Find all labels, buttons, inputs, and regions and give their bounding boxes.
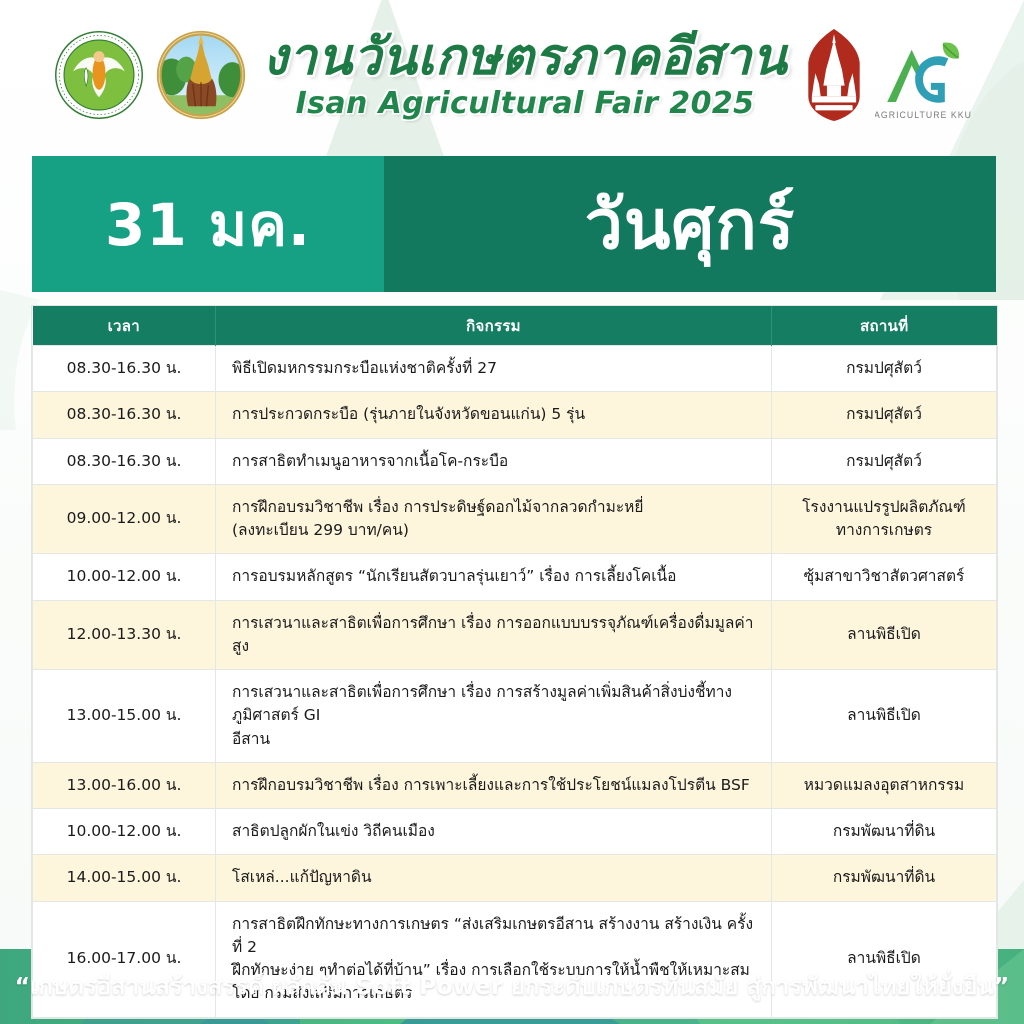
table-row: 10.00-12.00 น.สาธิตปลูกผักในเข่ง วิถีคนเ… (33, 809, 997, 855)
khon-kaen-university-seal-icon (803, 27, 865, 123)
footer-slogan: “เกษตรอีสานสร้างสรรค์ ผลักดัน Soft Power… (15, 968, 1010, 1005)
cell-activity: สาธิตปลูกผักในเข่ง วิถีคนเมือง (216, 809, 772, 855)
cell-time: 13.00-16.00 น. (33, 762, 216, 808)
cell-time: 10.00-12.00 น. (33, 809, 216, 855)
cell-place: ลานพิธีเปิด (772, 600, 997, 670)
poster-header: งานวันเกษตรภาคอีสาน Isan Agricultural Fa… (0, 0, 1024, 150)
poster-canvas: งานวันเกษตรภาคอีสาน Isan Agricultural Fa… (0, 0, 1024, 1024)
cell-time: 13.00-15.00 น. (33, 670, 216, 763)
cell-place: หมวดแมลงอุตสาหกรรม (772, 762, 997, 808)
cell-time: 09.00-12.00 น. (33, 484, 216, 554)
day-block: วันศุกร์ (384, 156, 996, 292)
table-row: 10.00-12.00 น.การอบรมหลักสูตร “นักเรียนส… (33, 554, 997, 600)
cell-activity: พิธีเปิดมหกรรมกระบือแห่งชาติครั้งที่ 27 (216, 346, 772, 392)
column-header-activity: กิจกรรม (216, 306, 772, 346)
cell-activity: การประกวดกระบือ (รุ่นภายในจังหวัดขอนแก่น… (216, 392, 772, 438)
schedule-table-container: เวลา กิจกรรม สถานที่ 08.30-16.30 น.พิธีเ… (32, 306, 996, 1018)
poster-footer: “เกษตรอีสานสร้างสรรค์ ผลักดัน Soft Power… (0, 949, 1024, 1024)
cell-time: 08.30-16.30 น. (33, 346, 216, 392)
cell-place: โรงงานแปรรูปผลิตภัณฑ์ทางการเกษตร (772, 484, 997, 554)
title-block: งานวันเกษตรภาคอีสาน Isan Agricultural Fa… (257, 32, 793, 119)
cell-activity: การอบรมหลักสูตร “นักเรียนสัตวบาลรุ่นเยาว… (216, 554, 772, 600)
cell-activity: การฝึกอบรมวิชาชีพ เรื่อง การเพาะเลี้ยงแล… (216, 762, 772, 808)
fair-title-thai: งานวันเกษตรภาคอีสาน (263, 32, 787, 83)
day-of-week-text: วันศุกร์ (585, 170, 796, 278)
table-row: 08.30-16.30 น.พิธีเปิดมหกรรมกระบือแห่งชา… (33, 346, 997, 392)
column-header-time: เวลา (33, 306, 216, 346)
table-row: 12.00-13.30 น.การเสวนาและสาธิตเพื่อการศึ… (33, 600, 997, 670)
svg-text:AGRICULTURE KKU: AGRICULTURE KKU (875, 110, 971, 120)
date-block: 31 มค. (32, 156, 384, 292)
column-header-place: สถานที่ (772, 306, 997, 346)
schedule-table-head: เวลา กิจกรรม สถานที่ (33, 306, 997, 346)
cell-time: 10.00-12.00 น. (33, 554, 216, 600)
cell-place: กรมปศุสัตว์ (772, 392, 997, 438)
cell-place: ลานพิธีเปิด (772, 670, 997, 763)
table-row: 09.00-12.00 น.การฝึกอบรมวิชาชีพ เรื่อง ก… (33, 484, 997, 554)
table-row: 13.00-15.00 น.การเสวนาและสาธิตเพื่อการศึ… (33, 670, 997, 763)
cell-time: 12.00-13.30 น. (33, 600, 216, 670)
table-row: 14.00-15.00 น.โสเหล่...แก้ปัญหาดินกรมพัฒ… (33, 855, 997, 901)
agriculture-kku-logo-icon: AGRICULTURE KKU (875, 27, 971, 123)
cell-place: ซุ้มสาขาวิชาสัตวศาสตร์ (772, 554, 997, 600)
cell-time: 08.30-16.30 น. (33, 438, 216, 484)
table-row: 08.30-16.30 น.การประกวดกระบือ (รุ่นภายใน… (33, 392, 997, 438)
cell-activity: การสาธิตทำเมนูอาหารจากเนื้อโค-กระบือ (216, 438, 772, 484)
cell-place: กรมพัฒนาที่ดิน (772, 809, 997, 855)
cell-activity: โสเหล่...แก้ปัญหาดิน (216, 855, 772, 901)
cell-place: กรมพัฒนาที่ดิน (772, 855, 997, 901)
fair-title-english: Isan Agricultural Fair 2025 (296, 89, 755, 119)
cell-activity: การเสวนาและสาธิตเพื่อการศึกษา เรื่อง การ… (216, 600, 772, 670)
schedule-table-body: 08.30-16.30 น.พิธีเปิดมหกรรมกระบือแห่งชา… (33, 346, 997, 1018)
cell-time: 08.30-16.30 น. (33, 392, 216, 438)
table-row: 13.00-16.00 น.การฝึกอบรมวิชาชีพ เรื่อง ก… (33, 762, 997, 808)
cell-activity: การฝึกอบรมวิชาชีพ เรื่อง การประดิษฐ์ดอกไ… (216, 484, 772, 554)
date-day-banner: 31 มค. วันศุกร์ (32, 156, 996, 292)
isan-fair-stump-emblem-icon (155, 29, 247, 121)
ministry-of-agriculture-seal-icon (53, 29, 145, 121)
table-row: 08.30-16.30 น.การสาธิตทำเมนูอาหารจากเนื้… (33, 438, 997, 484)
cell-place: กรมปศุสัตว์ (772, 346, 997, 392)
cell-time: 14.00-15.00 น. (33, 855, 216, 901)
date-text: 31 มค. (105, 178, 311, 271)
table-header-row: เวลา กิจกรรม สถานที่ (33, 306, 997, 346)
schedule-table: เวลา กิจกรรม สถานที่ 08.30-16.30 น.พิธีเ… (32, 306, 997, 1018)
cell-activity: การเสวนาและสาธิตเพื่อการศึกษา เรื่อง การ… (216, 670, 772, 763)
cell-place: กรมปศุสัตว์ (772, 438, 997, 484)
